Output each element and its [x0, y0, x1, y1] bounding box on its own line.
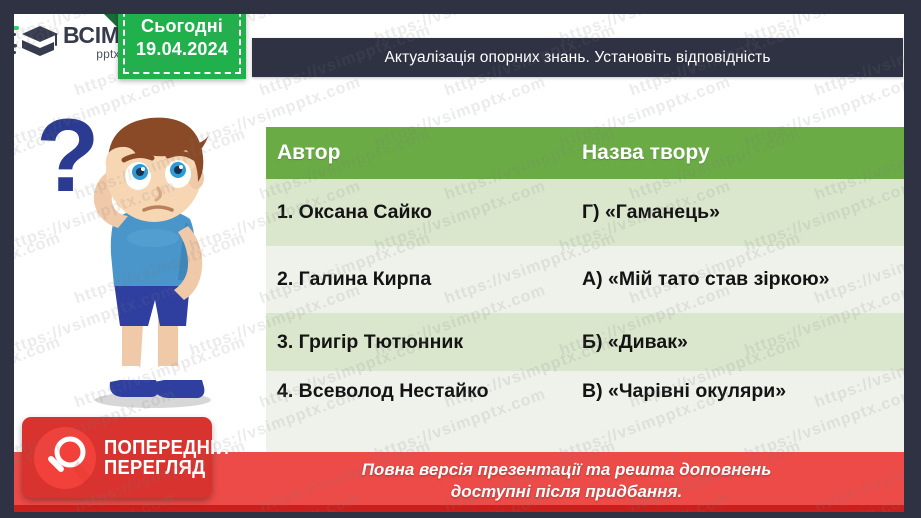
frame-right	[904, 0, 921, 518]
preview-label-line1: ПОПЕРЕДНІЙ	[104, 438, 229, 458]
frame-top	[0, 0, 921, 14]
logo-subtitle: pptx	[63, 48, 120, 60]
cell-work: Б) «Дивак»	[571, 313, 921, 371]
cell-author: 2. Галина Кирпа	[266, 246, 571, 313]
confused-boy-illustration: ?	[18, 104, 258, 414]
cell-author: 3. Григір Тютюнник	[266, 313, 571, 371]
table-row: 2. Галина Кирпа А) «Мій тато став зіркою…	[266, 246, 921, 313]
purchase-notice-line2: доступні після придбання.	[236, 481, 682, 503]
cell-work: А) «Мій тато став зіркою»	[571, 246, 921, 313]
cell-author: 4. Всеволод Нестайко	[266, 371, 571, 455]
frame-bottom	[0, 512, 921, 518]
today-date: 19.04.2024	[136, 39, 228, 60]
table-header-row: Автор Назва твору	[266, 127, 921, 179]
presentation-slide: ВСІМ pptx Сьогодні 19.04.2024 Актуалізац…	[0, 0, 921, 518]
column-header-work: Назва твору	[571, 127, 921, 179]
today-label: Сьогодні	[141, 16, 223, 37]
preview-label-line2: ПЕРЕГЛЯД	[104, 458, 229, 478]
banner-bottom-edge	[14, 505, 904, 512]
magnifier-icon	[34, 427, 96, 489]
question-mark-icon: ?	[36, 112, 100, 201]
slide-title: Актуалізація опорних знань. Установіть в…	[384, 49, 770, 67]
matching-table: Автор Назва твору 1. Оксана Сайко Г) «Га…	[266, 127, 921, 455]
cell-work: В) «Чарівні окуляри»	[571, 371, 921, 455]
preview-badge[interactable]: ПОПЕРЕДНІЙ ПЕРЕГЛЯД	[22, 417, 212, 498]
cell-work: Г) «Гаманець»	[571, 179, 921, 246]
table-row: 3. Григір Тютюнник Б) «Дивак»	[266, 313, 921, 371]
column-header-author: Автор	[266, 127, 571, 179]
cell-author: 1. Оксана Сайко	[266, 179, 571, 246]
frame-left	[0, 0, 14, 518]
purchase-notice-line1: Повна версія презентації та решта доповн…	[147, 459, 772, 481]
table-row: 4. Всеволод Нестайко В) «Чарівні окуляри…	[266, 371, 921, 455]
slide-title-bar: Актуалізація опорних знань. Установіть в…	[252, 38, 903, 77]
table-row: 1. Оксана Сайко Г) «Гаманець»	[266, 179, 921, 246]
